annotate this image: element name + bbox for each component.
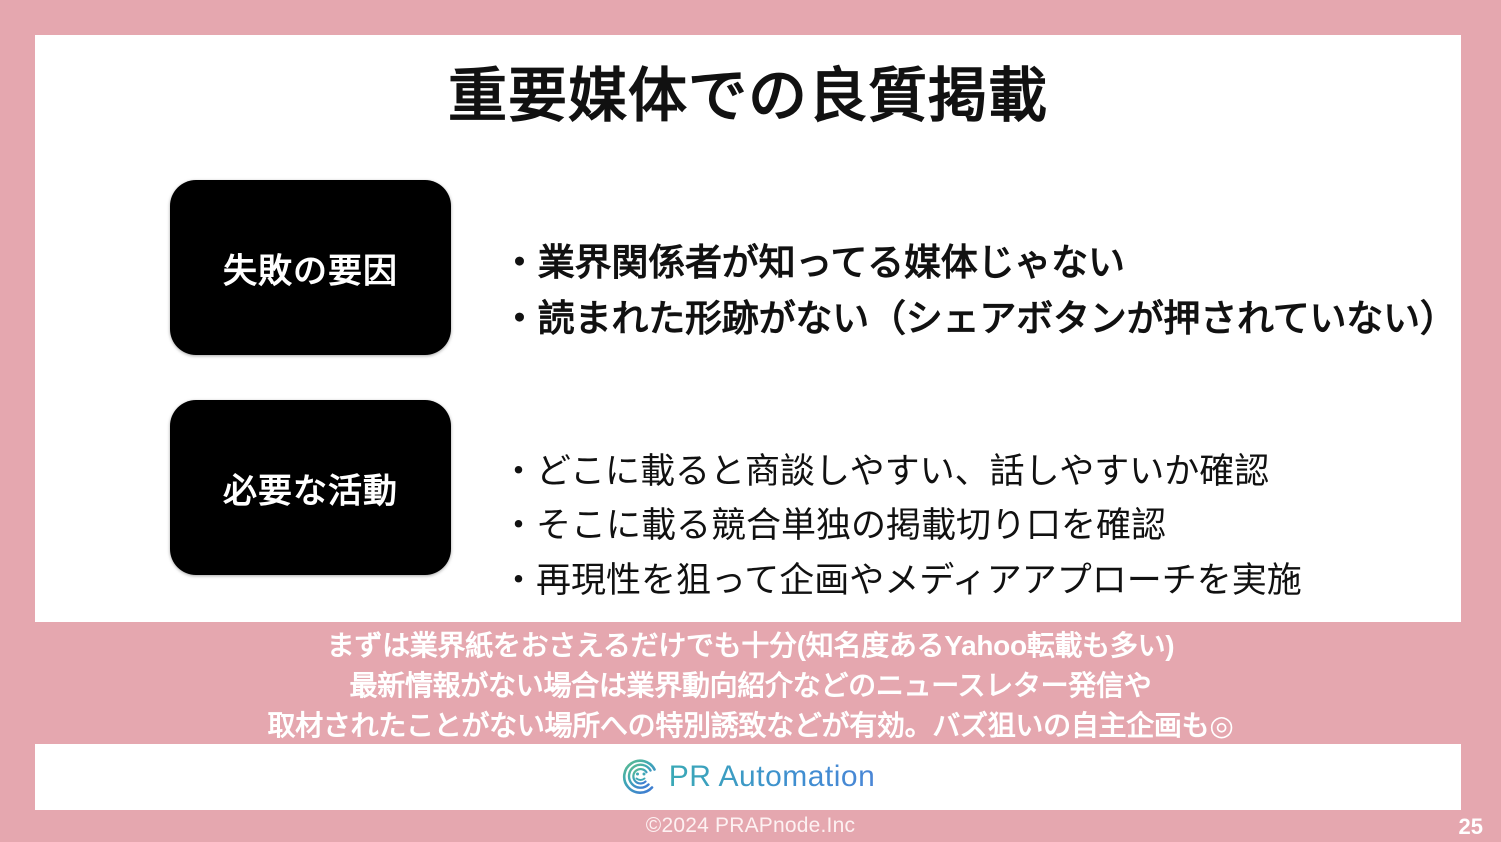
bullet-list-failure-causes: ・業界関係者が知ってる媒体じゃない ・読まれた形跡がない（シェアボタンが押されて… — [501, 235, 1461, 347]
callout-line: まずは業界紙をおさえるだけでも十分(知名度あるYahoo転載も多い) — [0, 626, 1501, 666]
bullet-item: ・再現性を狙って企画やメディアアプローチを実施 — [501, 554, 1461, 608]
logo-band: PR Automation — [35, 744, 1461, 810]
callout-line: 取材されたことがない場所への特別誘致などが有効。バズ狙いの自主企画も◎ — [0, 706, 1501, 746]
spiral-swirl-icon — [621, 757, 661, 797]
bullet-item: ・業界関係者が知ってる媒体じゃない — [501, 235, 1461, 291]
section-label-text: 必要な活動 — [170, 463, 451, 512]
page-number: 25 — [1459, 814, 1483, 840]
brand-logo: PR Automation — [35, 744, 1461, 810]
footer-strip: ©2024 PRAPnode.Inc 25 — [0, 810, 1501, 842]
slide-root: 重要媒体での良質掲載 失敗の要因 ・業界関係者が知ってる媒体じゃない ・読まれた… — [0, 0, 1501, 842]
bullet-item: ・読まれた形跡がない（シェアボタンが押されていない） — [501, 291, 1461, 347]
section-label-box-failure-causes: 失敗の要因 — [170, 180, 451, 355]
copyright-text: ©2024 PRAPnode.Inc — [0, 814, 1501, 838]
callout-text-block: まずは業界紙をおさえるだけでも十分(知名度あるYahoo転載も多い) 最新情報が… — [0, 622, 1501, 745]
slide-content-panel: 重要媒体での良質掲載 失敗の要因 ・業界関係者が知ってる媒体じゃない ・読まれた… — [35, 35, 1461, 622]
section-label-text: 失敗の要因 — [170, 243, 451, 292]
bullet-list-required-actions: ・どこに載ると商談しやすい、話しやすいか確認 ・そこに載る競合単独の掲載切り口を… — [501, 445, 1461, 608]
bullet-item: ・そこに載る競合単独の掲載切り口を確認 — [501, 499, 1461, 553]
brand-logo-text: PR Automation — [669, 762, 876, 792]
section-label-box-required-actions: 必要な活動 — [170, 400, 451, 575]
page-title: 重要媒体での良質掲載 — [35, 63, 1461, 131]
bullet-item: ・どこに載ると商談しやすい、話しやすいか確認 — [501, 445, 1461, 499]
callout-line: 最新情報がない場合は業界動向紹介などのニュースレター発信や — [0, 666, 1501, 706]
callout-band: まずは業界紙をおさえるだけでも十分(知名度あるYahoo転載も多い) 最新情報が… — [0, 622, 1501, 744]
